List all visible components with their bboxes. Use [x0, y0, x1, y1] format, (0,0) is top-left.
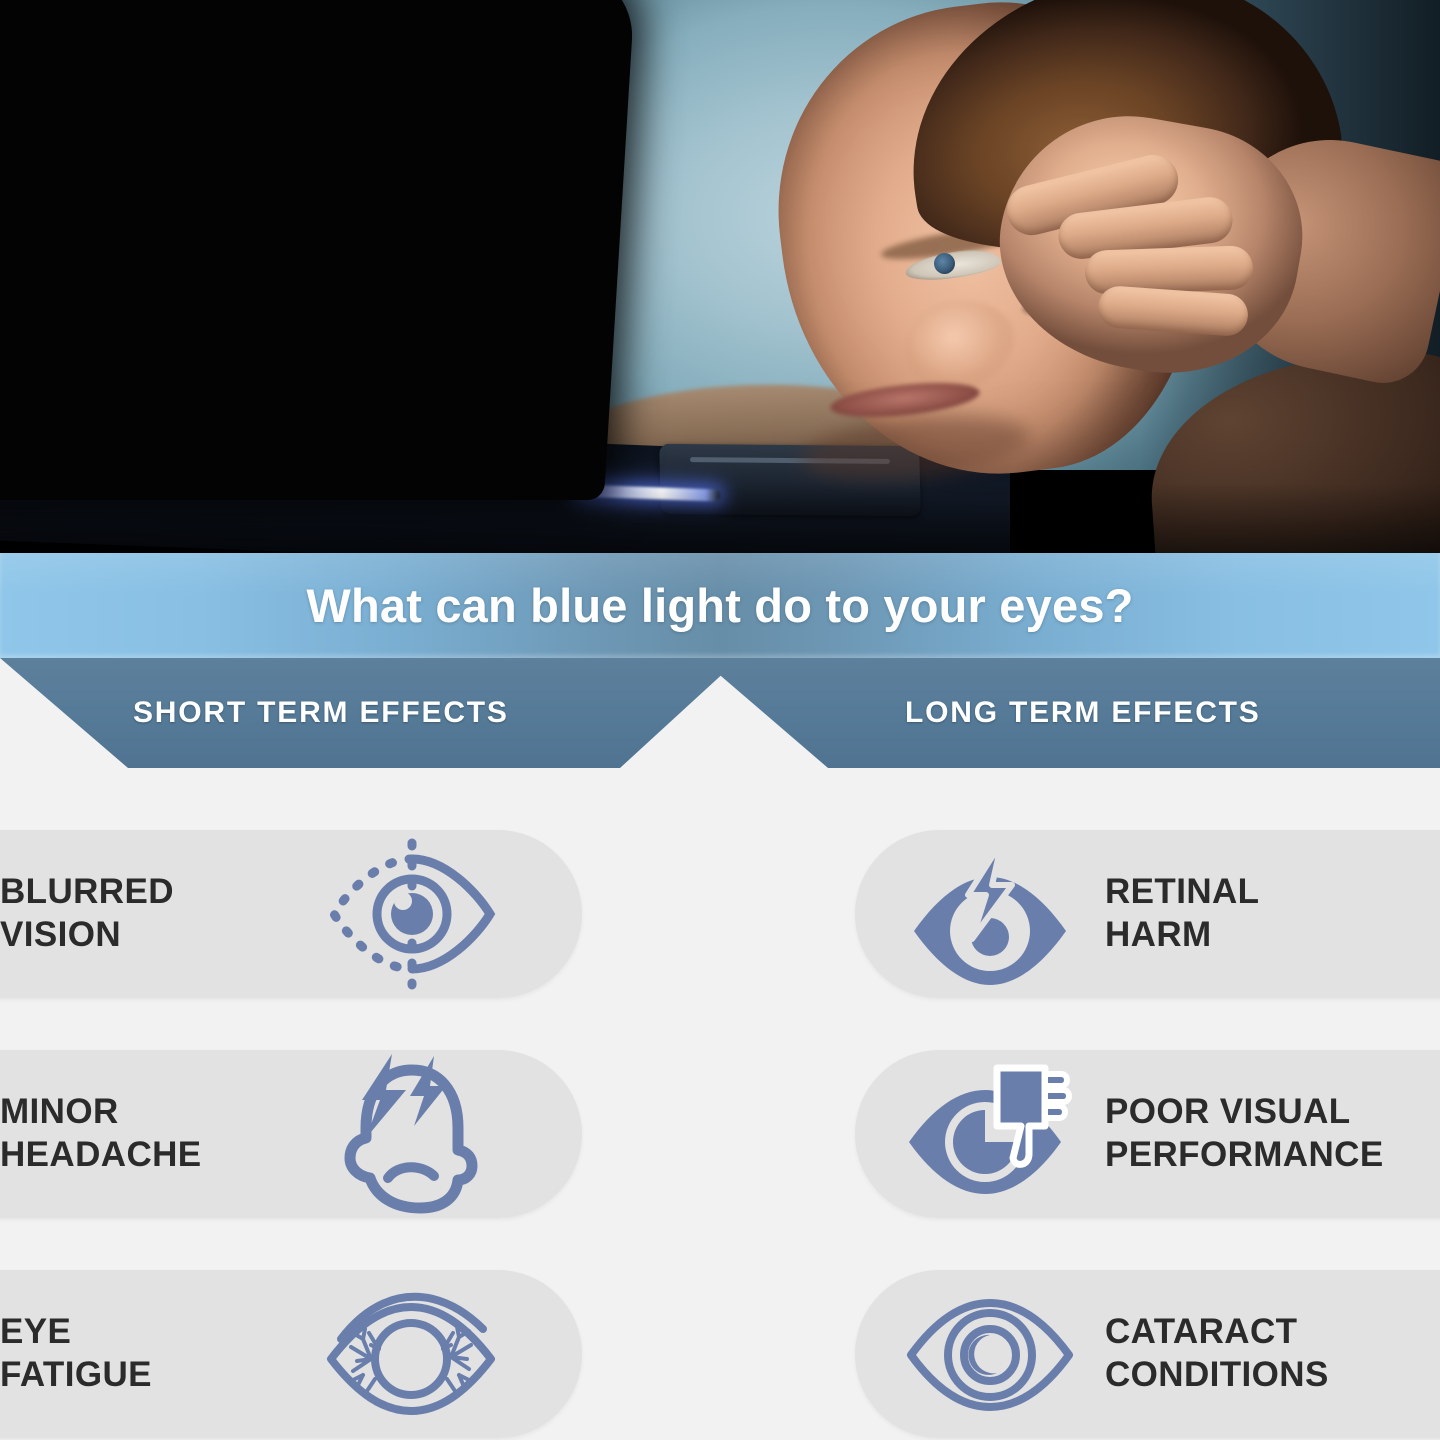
hero-photo [0, 0, 1440, 553]
card-eye-fatigue[interactable]: EYE FATIGUE [0, 1270, 582, 1438]
cataract-eye-icon [890, 1279, 1090, 1429]
effects-grid: BLURRED VISION [0, 768, 1440, 1440]
effects-row: MINOR HEADACHE [0, 1050, 1440, 1218]
headache-head-lightning-icon [310, 1059, 510, 1209]
eye-iris [934, 253, 955, 274]
card-retinal-harm[interactable]: RETINAL HARM [855, 830, 1440, 998]
card-label: CATARACT CONDITIONS [1095, 1311, 1329, 1396]
infographic-page: What can blue light do to your eyes? SHO… [0, 0, 1440, 1440]
card-cataract-conditions[interactable]: CATARACT CONDITIONS [855, 1270, 1440, 1438]
eye-lightning-bolt-icon [890, 839, 1090, 989]
card-label: BLURRED VISION [0, 871, 300, 956]
column-headers: SHORT TERM EFFECTS LONG TERM EFFECTS [0, 658, 1440, 768]
header-long-term: LONG TERM EFFECTS [700, 658, 1440, 768]
laptop-screen-lid [0, 0, 636, 500]
card-label: MINOR HEADACHE [0, 1091, 300, 1176]
card-minor-headache[interactable]: MINOR HEADACHE [0, 1050, 582, 1218]
title-banner: What can blue light do to your eyes? [0, 553, 1440, 658]
page-title: What can blue light do to your eyes? [306, 578, 1133, 633]
photo-bottom-fade [0, 483, 1440, 553]
header-short-term: SHORT TERM EFFECTS [0, 658, 740, 768]
card-label: RETINAL HARM [1095, 871, 1259, 956]
blurred-vision-eye-icon [310, 839, 510, 989]
eye-thumbs-down-icon [890, 1059, 1090, 1209]
card-blurred-vision[interactable]: BLURRED VISION [0, 830, 582, 998]
bloodshot-tired-eye-icon [310, 1279, 510, 1429]
card-label: POOR VISUAL PERFORMANCE [1095, 1091, 1384, 1176]
card-poor-visual-performance[interactable]: POOR VISUAL PERFORMANCE [855, 1050, 1440, 1218]
header-long-term-label: LONG TERM EFFECTS [905, 696, 1261, 730]
card-label: EYE FATIGUE [0, 1311, 300, 1396]
effects-row: EYE FATIGUE [0, 1270, 1440, 1438]
effects-row: BLURRED VISION [0, 830, 1440, 998]
header-short-term-label: SHORT TERM EFFECTS [133, 696, 509, 730]
